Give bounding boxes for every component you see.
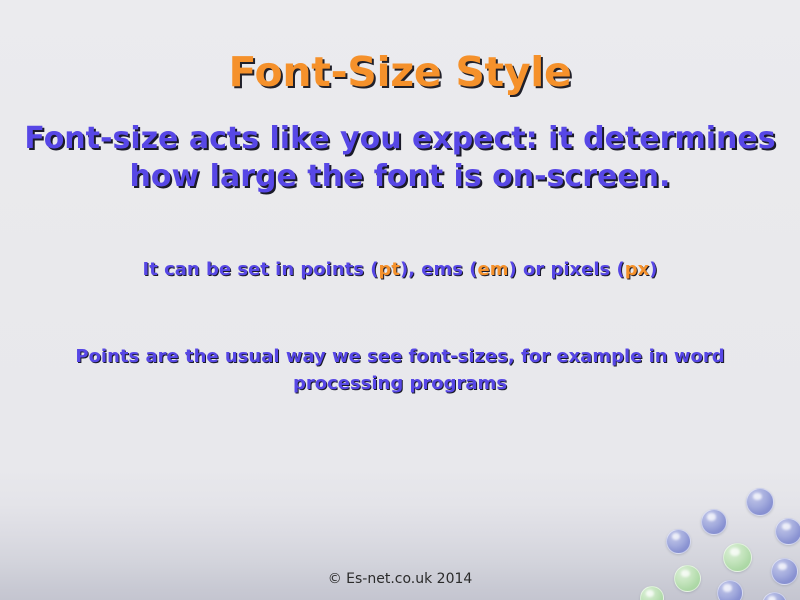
slide-title: Font-Size Style — [0, 48, 800, 96]
unit-keyword-px: px — [625, 259, 650, 280]
unit-keyword-em: em — [477, 259, 508, 280]
units-text-part-2: ), ems ( — [400, 259, 478, 280]
bubble-blue-3 — [775, 518, 800, 545]
bubble-green-1 — [723, 543, 752, 572]
presentation-slide: Font-Size Style Font-size acts like you … — [0, 0, 800, 600]
unit-keyword-pt: pt — [378, 259, 400, 280]
units-text-part-1: It can be set in points ( — [143, 259, 379, 280]
units-line: It can be set in points (pt), ems (em) o… — [40, 258, 760, 282]
bubble-blue-7 — [762, 592, 787, 600]
slide-subtitle: Font-size acts like you expect: it deter… — [14, 120, 786, 196]
bubble-blue-2 — [701, 509, 727, 535]
units-text-part-3: ) or pixels ( — [508, 259, 624, 280]
bubble-green-3 — [640, 586, 664, 600]
bubble-blue-1 — [746, 488, 774, 516]
bubble-blue-4 — [666, 529, 691, 554]
body-paragraph: Points are the usual way we see font-siz… — [20, 343, 780, 397]
units-text-part-4: ) — [649, 259, 657, 280]
copyright-footer: © Es-net.co.uk 2014 — [0, 570, 800, 588]
